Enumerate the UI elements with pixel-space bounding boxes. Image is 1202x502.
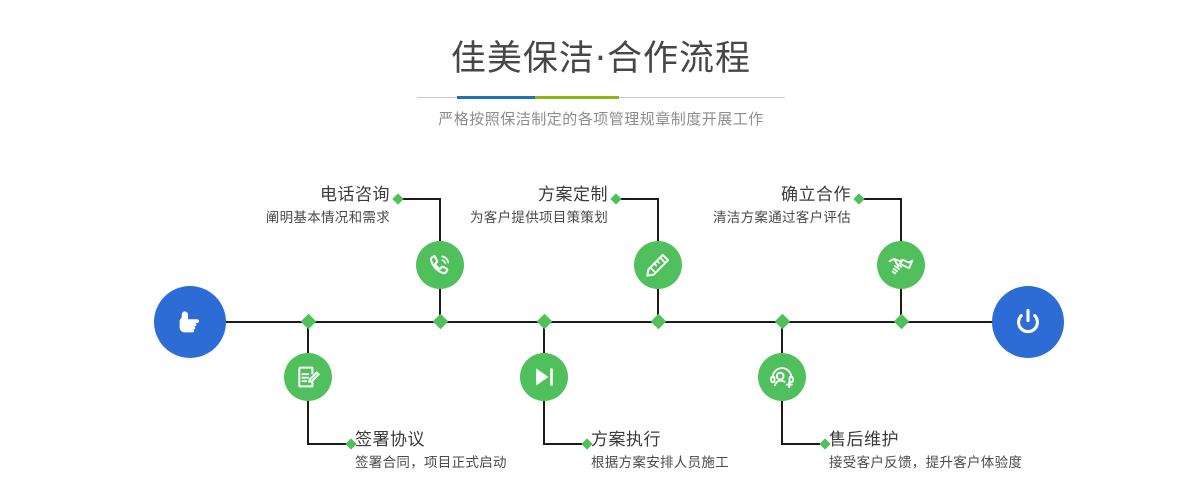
step-title-3: 方案定制 xyxy=(356,183,608,207)
connector-horizontal-step-6 xyxy=(781,443,823,445)
axis-marker-step-4 xyxy=(537,314,553,330)
step-label-3: 方案定制 为客户提供项目策策划 xyxy=(356,183,608,229)
connector-horizontal-step-2 xyxy=(307,443,349,445)
page-title: 佳美保洁·合作流程 xyxy=(0,0,1202,82)
step-label-4: 方案执行 根据方案安排人员施工 xyxy=(591,428,729,474)
step-node-4[interactable] xyxy=(520,353,568,401)
cooperation-process-infographic: 佳美保洁·合作流程 严格按照保洁制定的各项管理规章制度开展工作 xyxy=(0,0,1202,502)
connector-horizontal-step-5 xyxy=(859,198,901,200)
document-edit-icon xyxy=(294,363,322,391)
power-icon xyxy=(1008,302,1048,342)
axis-marker-step-2 xyxy=(301,314,317,330)
step-title-1: 电话咨询 xyxy=(138,183,390,207)
step-label-1: 电话咨询 阐明基本情况和需求 xyxy=(138,183,390,229)
connector-horizontal-step-3 xyxy=(616,198,658,200)
step-desc-1: 阐明基本情况和需求 xyxy=(138,207,390,229)
play-skip-icon xyxy=(530,363,558,391)
step-title-2: 签署协议 xyxy=(355,428,507,452)
step-desc-2: 签署合同，项目正式启动 xyxy=(355,452,507,474)
step-node-1[interactable] xyxy=(416,241,464,289)
phone-call-icon xyxy=(426,251,454,279)
handshake-icon xyxy=(887,251,915,279)
step-node-2[interactable] xyxy=(284,353,332,401)
step-title-6: 售后维护 xyxy=(829,428,1022,452)
step-desc-6: 接受客户反馈，提升客户体验度 xyxy=(829,452,1022,474)
header: 佳美保洁·合作流程 严格按照保洁制定的各项管理规章制度开展工作 xyxy=(0,0,1202,82)
pencil-ruler-icon xyxy=(644,251,672,279)
divider-segment-green xyxy=(535,96,619,99)
step-label-6: 售后维护 接受客户反馈，提升客户体验度 xyxy=(829,428,1022,474)
step-title-4: 方案执行 xyxy=(591,428,729,452)
step-title-5: 确立合作 xyxy=(599,183,851,207)
step-node-5[interactable] xyxy=(877,241,925,289)
step-node-3[interactable] xyxy=(634,241,682,289)
timeline-start-node xyxy=(154,286,226,358)
page-subtitle: 严格按照保洁制定的各项管理规章制度开展工作 xyxy=(0,108,1202,130)
step-desc-5: 清洁方案通过客户评估 xyxy=(599,207,851,229)
axis-marker-step-1 xyxy=(433,314,449,330)
connector-horizontal-step-1 xyxy=(398,198,440,200)
divider-segment-blue xyxy=(457,96,535,99)
label-marker-step-5 xyxy=(853,193,864,204)
axis-marker-step-6 xyxy=(775,314,791,330)
step-label-5: 确立合作 清洁方案通过客户评估 xyxy=(599,183,851,229)
connector-horizontal-step-4 xyxy=(543,443,585,445)
customer-service-add-icon xyxy=(768,363,796,391)
step-node-6[interactable] xyxy=(758,353,806,401)
step-desc-4: 根据方案安排人员施工 xyxy=(591,452,729,474)
step-desc-3: 为客户提供项目策策划 xyxy=(356,207,608,229)
timeline-end-node xyxy=(992,286,1064,358)
axis-marker-step-3 xyxy=(651,314,667,330)
step-label-2: 签署协议 签署合同，项目正式启动 xyxy=(355,428,507,474)
pointing-hand-icon xyxy=(170,302,210,342)
title-divider xyxy=(417,97,785,98)
axis-marker-step-5 xyxy=(894,314,910,330)
